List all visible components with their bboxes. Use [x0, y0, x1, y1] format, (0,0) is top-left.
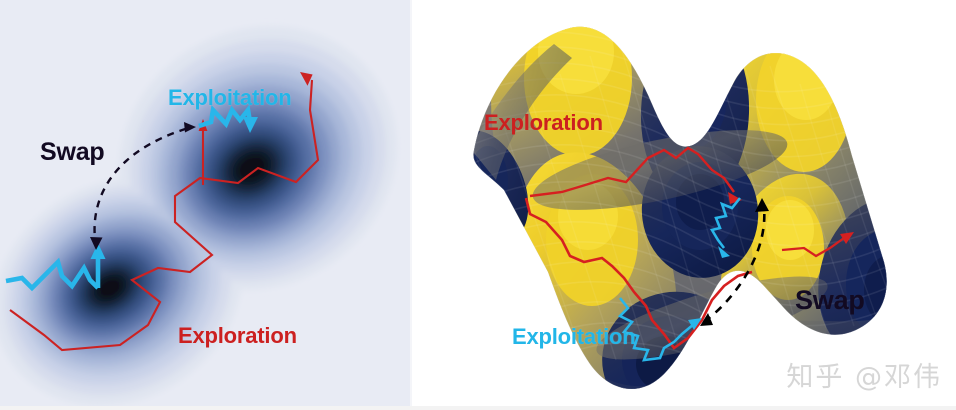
figure-root: Exploitation Exploration Swap [0, 0, 956, 410]
label-exploitation-left: Exploitation [168, 85, 292, 111]
label-exploitation-right: Exploitation [512, 324, 636, 350]
panel-divider [410, 0, 412, 406]
label-exploration-right: Exploration [484, 110, 603, 136]
left-contour-panel: Exploitation Exploration Swap [0, 0, 412, 410]
label-exploration-left: Exploration [178, 323, 297, 349]
label-swap-right: Swap [795, 285, 865, 316]
bottom-strip [0, 406, 956, 410]
right-surface-panel: Exploration Exploitation Swap 知乎 @邓伟 [412, 0, 956, 410]
label-swap-left: Swap [40, 138, 105, 167]
zhihu-watermark: 知乎 @邓伟 [786, 355, 942, 394]
surface-plot-svg [412, 0, 956, 410]
